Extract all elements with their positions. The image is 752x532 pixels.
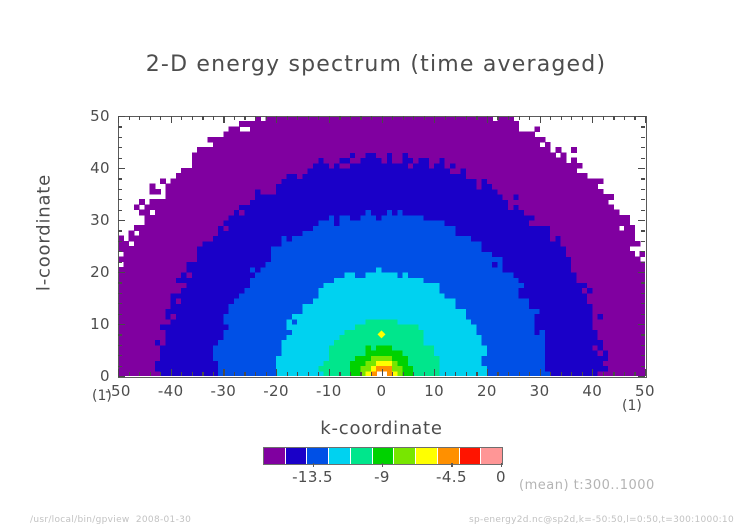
y-tick-minor	[118, 282, 122, 283]
page-title: 2-D energy spectrum (time averaged)	[0, 52, 752, 77]
x-tick-major	[487, 369, 488, 376]
x-tick-minor	[613, 372, 614, 376]
x-tick-minor-top	[561, 116, 562, 120]
x-tick-label: -40	[141, 382, 201, 400]
x-tick-major	[329, 369, 330, 376]
plot-page: 2-D energy spectrum (time averaged) k-co…	[0, 0, 752, 532]
x-tick-minor-top	[508, 116, 509, 120]
y-tick-minor-right	[641, 158, 645, 159]
y-tick-minor	[118, 189, 122, 190]
y-tick-label: 10	[64, 315, 110, 333]
y-axis-title: l-coordinate	[34, 143, 55, 323]
x-tick-major-top	[382, 116, 383, 123]
x-tick-minor	[129, 372, 130, 376]
x-tick-minor	[424, 372, 425, 376]
contour-plot-area	[118, 116, 645, 376]
x-tick-minor-top	[603, 116, 604, 120]
x-tick-minor-top	[392, 116, 393, 120]
y-tick-minor-right	[641, 147, 645, 148]
x-tick-minor-top	[360, 116, 361, 120]
y-tick-major	[118, 116, 125, 117]
y-tick-minor	[118, 366, 122, 367]
x-tick-minor	[550, 372, 551, 376]
y-tick-minor-right	[641, 189, 645, 190]
y-tick-major-right	[638, 272, 645, 273]
y-tick-minor	[118, 251, 122, 252]
footer-source: sp-energy2d.nc@sp2d,k=-50:50,l=0:50,t=30…	[469, 515, 734, 525]
y-tick-minor	[118, 178, 122, 179]
x-tick-minor-top	[519, 116, 520, 120]
x-tick-label: 40	[562, 382, 622, 400]
x-tick-minor-top	[297, 116, 298, 120]
x-tick-label: 30	[510, 382, 570, 400]
y-tick-minor	[118, 210, 122, 211]
x-tick-minor-top	[139, 116, 140, 120]
y-tick-minor-right	[641, 303, 645, 304]
x-tick-minor	[371, 372, 372, 376]
x-tick-minor	[266, 372, 267, 376]
x-tick-minor	[202, 372, 203, 376]
x-tick-minor	[181, 372, 182, 376]
x-tick-minor	[497, 372, 498, 376]
colorbar-label: -9	[347, 468, 417, 486]
x-tick-minor	[255, 372, 256, 376]
y-tick-minor-right	[641, 334, 645, 335]
x-tick-minor	[160, 372, 161, 376]
y-tick-minor	[118, 137, 122, 138]
x-tick-minor	[529, 372, 530, 376]
x-tick-minor-top	[308, 116, 309, 120]
x-tick-minor-top	[424, 116, 425, 120]
y-tick-major-right	[638, 220, 645, 221]
x-tick-major-top	[487, 116, 488, 123]
x-tick-minor-top	[529, 116, 530, 120]
x-tick-label: -30	[193, 382, 253, 400]
x-tick-label: 50	[615, 382, 675, 400]
y-tick-minor	[118, 147, 122, 148]
x-tick-major	[382, 369, 383, 376]
y-tick-minor	[118, 158, 122, 159]
x-tick-minor	[634, 372, 635, 376]
colorbar-tick	[451, 463, 452, 467]
colorbar-tick	[382, 463, 383, 467]
x-tick-label: -20	[246, 382, 306, 400]
x-tick-minor-top	[476, 116, 477, 120]
x-tick-major-top	[434, 116, 435, 123]
x-tick-minor	[455, 372, 456, 376]
y-tick-major	[118, 376, 125, 377]
y-tick-minor-right	[641, 199, 645, 200]
y-tick-major	[118, 220, 125, 221]
y-tick-minor-right	[641, 251, 645, 252]
x-tick-major	[540, 369, 541, 376]
x-tick-minor-top	[582, 116, 583, 120]
x-tick-minor-top	[350, 116, 351, 120]
footer-command: /usr/local/bin/gpview 2008-01-30	[30, 515, 191, 525]
x-tick-major	[592, 369, 593, 376]
colorbar-label: -13.5	[278, 468, 348, 486]
y-tick-major-right	[638, 376, 645, 377]
x-tick-minor-top	[613, 116, 614, 120]
x-tick-minor	[561, 372, 562, 376]
y-tick-minor	[118, 262, 122, 263]
colorbar-cell[interactable]	[437, 448, 459, 464]
x-tick-minor	[403, 372, 404, 376]
x-tick-minor-top	[624, 116, 625, 120]
x-tick-minor-top	[255, 116, 256, 120]
x-tick-minor-top	[339, 116, 340, 120]
y-tick-minor	[118, 345, 122, 346]
x-tick-minor-top	[213, 116, 214, 120]
x-tick-minor-top	[403, 116, 404, 120]
x-tick-minor	[392, 372, 393, 376]
colorbar-cell[interactable]	[350, 448, 372, 464]
x-tick-minor-top	[497, 116, 498, 120]
x-tick-label: 0	[352, 382, 412, 400]
x-tick-minor	[287, 372, 288, 376]
colorbar-cell[interactable]	[372, 448, 394, 464]
x-tick-minor-top	[413, 116, 414, 120]
y-tick-major-right	[638, 168, 645, 169]
x-tick-label: 20	[457, 382, 517, 400]
mean-annotation: (mean) t:300..1000	[519, 478, 655, 493]
y-tick-minor-right	[641, 366, 645, 367]
x-tick-minor-top	[445, 116, 446, 120]
y-tick-minor-right	[641, 262, 645, 263]
y-tick-minor	[118, 303, 122, 304]
x-tick-minor-top	[550, 116, 551, 120]
x-tick-major	[223, 369, 224, 376]
y-tick-minor	[118, 334, 122, 335]
y-tick-major	[118, 168, 125, 169]
colorbar-cell[interactable]	[264, 448, 285, 464]
y-tick-label: 20	[64, 263, 110, 281]
x-tick-minor-top	[192, 116, 193, 120]
x-tick-minor-top	[455, 116, 456, 120]
x-tick-minor	[508, 372, 509, 376]
x-tick-minor	[582, 372, 583, 376]
x-tick-minor-top	[129, 116, 130, 120]
x-tick-minor-top	[160, 116, 161, 120]
x-tick-minor	[360, 372, 361, 376]
x-tick-minor	[413, 372, 414, 376]
y-tick-minor-right	[641, 282, 645, 283]
x-tick-major-top	[645, 116, 646, 123]
x-axis-unit-right: (1)	[622, 398, 642, 414]
y-tick-major-right	[638, 116, 645, 117]
x-tick-minor	[297, 372, 298, 376]
x-axis-title: k-coordinate	[118, 418, 645, 439]
x-tick-label: 10	[404, 382, 464, 400]
x-tick-major-top	[223, 116, 224, 123]
x-tick-major	[171, 369, 172, 376]
x-tick-major	[434, 369, 435, 376]
y-tick-label: 30	[64, 211, 110, 229]
x-tick-minor-top	[234, 116, 235, 120]
x-tick-minor-top	[266, 116, 267, 120]
colorbar-tick	[501, 463, 502, 467]
x-tick-major-top	[329, 116, 330, 123]
colorbar-cell[interactable]	[393, 448, 415, 464]
y-tick-label: 50	[64, 107, 110, 125]
y-tick-label: 0	[64, 367, 110, 385]
y-tick-minor	[118, 293, 122, 294]
x-tick-minor	[466, 372, 467, 376]
x-tick-minor	[519, 372, 520, 376]
y-tick-major	[118, 272, 125, 273]
y-tick-major	[118, 324, 125, 325]
x-tick-major-top	[592, 116, 593, 123]
x-tick-minor-top	[371, 116, 372, 120]
x-tick-major-top	[540, 116, 541, 123]
colorbar-cell[interactable]	[480, 448, 502, 464]
x-tick-minor	[192, 372, 193, 376]
x-tick-minor	[234, 372, 235, 376]
x-tick-minor-top	[244, 116, 245, 120]
y-tick-minor	[118, 230, 122, 231]
x-tick-minor-top	[466, 116, 467, 120]
x-tick-minor	[350, 372, 351, 376]
y-tick-minor-right	[641, 355, 645, 356]
x-tick-minor-top	[202, 116, 203, 120]
y-tick-minor	[118, 355, 122, 356]
y-tick-minor-right	[641, 210, 645, 211]
x-tick-minor	[476, 372, 477, 376]
x-tick-minor-top	[287, 116, 288, 120]
x-tick-minor	[150, 372, 151, 376]
x-tick-minor	[244, 372, 245, 376]
x-tick-minor	[213, 372, 214, 376]
x-tick-minor-top	[318, 116, 319, 120]
y-tick-minor-right	[641, 314, 645, 315]
y-tick-minor-right	[641, 241, 645, 242]
x-tick-minor-top	[634, 116, 635, 120]
y-tick-minor-right	[641, 293, 645, 294]
x-tick-minor	[139, 372, 140, 376]
x-tick-major-top	[171, 116, 172, 123]
y-tick-minor-right	[641, 345, 645, 346]
x-tick-minor	[308, 372, 309, 376]
y-tick-minor-right	[641, 178, 645, 179]
contour-canvas	[118, 116, 645, 376]
y-tick-major-right	[638, 324, 645, 325]
x-tick-minor	[603, 372, 604, 376]
y-tick-minor-right	[641, 137, 645, 138]
x-tick-label: -10	[299, 382, 359, 400]
x-tick-major	[276, 369, 277, 376]
x-tick-minor	[624, 372, 625, 376]
y-tick-minor	[118, 314, 122, 315]
x-tick-minor-top	[150, 116, 151, 120]
colorbar-cell[interactable]	[328, 448, 350, 464]
x-tick-minor	[571, 372, 572, 376]
x-tick-minor	[445, 372, 446, 376]
y-tick-minor	[118, 126, 122, 127]
colorbar-label: 0	[466, 468, 536, 486]
colorbar-cell[interactable]	[415, 448, 437, 464]
colorbar-cell[interactable]	[306, 448, 328, 464]
colorbar-cell[interactable]	[285, 448, 307, 464]
x-tick-major	[645, 369, 646, 376]
x-tick-major-top	[276, 116, 277, 123]
x-tick-minor	[318, 372, 319, 376]
x-tick-major	[118, 369, 119, 376]
colorbar-tick	[313, 463, 314, 467]
y-tick-minor-right	[641, 126, 645, 127]
x-tick-minor-top	[571, 116, 572, 120]
colorbar-cell[interactable]	[459, 448, 481, 464]
x-tick-minor-top	[181, 116, 182, 120]
y-tick-minor-right	[641, 230, 645, 231]
y-tick-label: 40	[64, 159, 110, 177]
y-tick-minor	[118, 199, 122, 200]
y-tick-minor	[118, 241, 122, 242]
x-tick-minor	[339, 372, 340, 376]
